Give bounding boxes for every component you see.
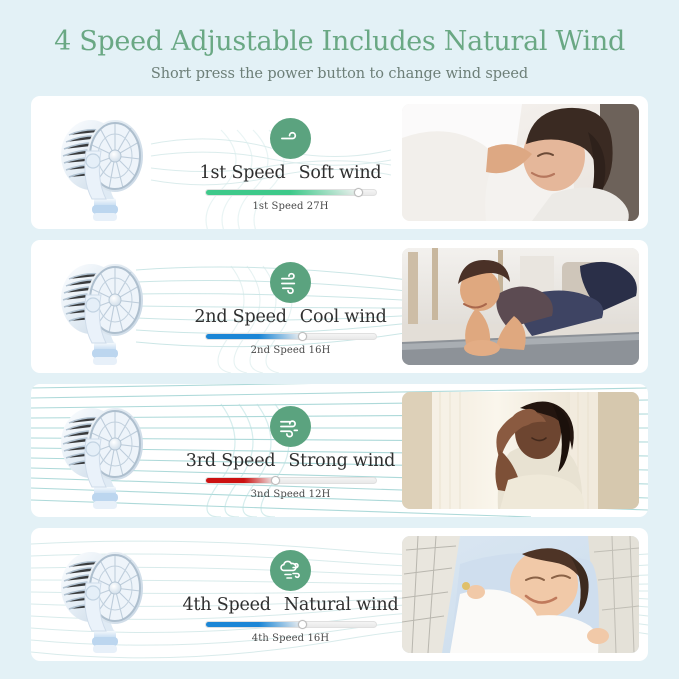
fan-illustration [49, 101, 161, 225]
photo-woman-plank [402, 248, 639, 365]
wind-natural-cloud-icon [270, 550, 311, 591]
speed-slider[interactable] [205, 477, 377, 484]
slider-fill [206, 478, 276, 483]
speed-card-list: 1st SpeedSoft wind1st Speed 27H [0, 96, 679, 661]
fan-power-button [86, 298, 100, 312]
sleeping-baby-photo [402, 536, 639, 653]
speed-label: 2nd SpeedCool wind [194, 307, 386, 327]
page-title: 4 Speed Adjustable Includes Natural Wind [0, 26, 679, 57]
speed-info-block: 3rd SpeedStrong wind3nd Speed 12H [179, 384, 402, 517]
speed-level-text: 4th Speed [183, 595, 271, 615]
speed-card: 3rd SpeedStrong wind3nd Speed 12H [31, 384, 648, 517]
page-header: 4 Speed Adjustable Includes Natural Wind… [0, 0, 679, 82]
speed-info-block: 4th SpeedNatural wind4th Speed 16H [179, 528, 402, 661]
woman-sleeping-in-bed-photo [402, 104, 639, 221]
wind-soft-glyph [279, 127, 302, 150]
product-feature-page: 4 Speed Adjustable Includes Natural Wind… [0, 0, 679, 679]
speed-info-block: 1st SpeedSoft wind1st Speed 27H [179, 96, 402, 229]
wind-type-text: Cool wind [300, 307, 387, 327]
product-fan-image [31, 528, 179, 661]
slider-fill [206, 190, 359, 195]
speed-slider[interactable] [205, 189, 377, 196]
speed-card: 1st SpeedSoft wind1st Speed 27H [31, 96, 648, 229]
slider-knob[interactable] [271, 476, 280, 485]
speed-slider[interactable] [205, 621, 377, 628]
wind-cool-icon [270, 262, 311, 303]
photo-sleeping-baby [402, 536, 639, 653]
woman-doing-plank-exercise-photo [402, 248, 639, 365]
wind-strong-glyph [279, 415, 302, 438]
speed-label: 3rd SpeedStrong wind [186, 451, 395, 471]
photo-woman-sleeping [402, 104, 639, 221]
fan-illustration [49, 533, 161, 657]
fan-illustration [49, 245, 161, 369]
product-fan-image [31, 96, 179, 229]
fan-power-button [86, 154, 100, 168]
woman-wiping-brow-photo [402, 392, 639, 509]
slider-fill [206, 622, 303, 627]
wind-strong-icon [270, 406, 311, 447]
slider-caption: 4th Speed 16H [252, 633, 329, 644]
product-fan-image [31, 240, 179, 373]
slider-knob[interactable] [298, 620, 307, 629]
wind-type-text: Soft wind [299, 163, 382, 183]
speed-label: 4th SpeedNatural wind [183, 595, 399, 615]
slider-caption: 1st Speed 27H [252, 201, 328, 212]
speed-info-block: 2nd SpeedCool wind2nd Speed 16H [179, 240, 402, 373]
slider-fill [206, 334, 303, 339]
wind-soft-icon [270, 118, 311, 159]
product-fan-image [31, 384, 179, 517]
photo-woman-wiping-brow [402, 392, 639, 509]
slider-knob[interactable] [354, 188, 363, 197]
page-subtitle: Short press the power button to change w… [0, 66, 679, 82]
slider-knob[interactable] [298, 332, 307, 341]
speed-slider[interactable] [205, 333, 377, 340]
fan-power-button [86, 442, 100, 456]
wind-natural-cloud-glyph [279, 558, 303, 582]
fan-power-button [86, 586, 100, 600]
speed-card: 2nd SpeedCool wind2nd Speed 16H [31, 240, 648, 373]
speed-level-text: 3rd Speed [186, 451, 276, 471]
speed-card: 4th SpeedNatural wind4th Speed 16H [31, 528, 648, 661]
speed-level-text: 2nd Speed [194, 307, 286, 327]
wind-type-text: Natural wind [284, 595, 399, 615]
speed-level-text: 1st Speed [200, 163, 286, 183]
wind-type-text: Strong wind [288, 451, 395, 471]
speed-label: 1st SpeedSoft wind [200, 163, 382, 183]
slider-caption: 3nd Speed 12H [251, 489, 331, 500]
wind-cool-glyph [279, 271, 302, 294]
slider-caption: 2nd Speed 16H [251, 345, 331, 356]
fan-illustration [49, 389, 161, 513]
